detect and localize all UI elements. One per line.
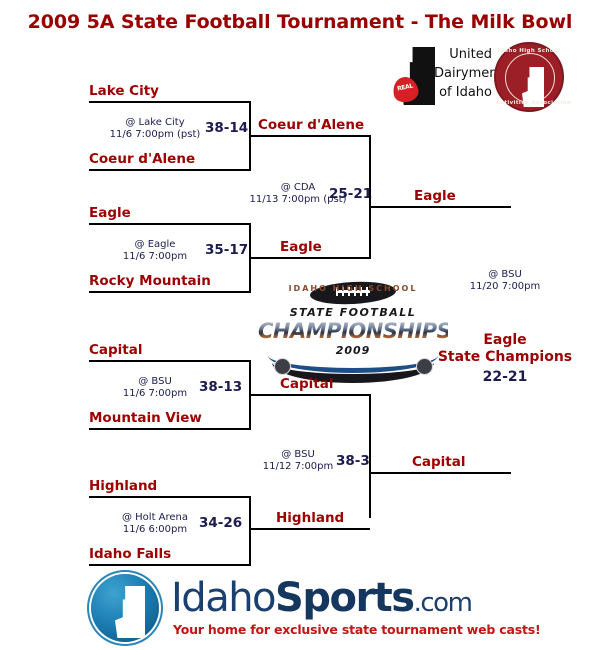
round1-game1-top-team: Lake City xyxy=(89,84,159,99)
round1-game3-info: @ BSU 11/6 7:00pm xyxy=(95,376,215,399)
semifinal2-winner-rule xyxy=(369,472,511,474)
round1-game4-venue: @ Holt Arena xyxy=(95,512,215,524)
bracket-page: 2009 5A State Football Tournament - The … xyxy=(0,0,600,650)
footer-tagline: Your home for exclusive state tournament… xyxy=(173,622,541,637)
round1-game2-top-rule xyxy=(89,223,250,225)
round1-game4-connector xyxy=(249,496,251,566)
cc-year-label: 2009 xyxy=(258,344,448,357)
semifinal1-score: 25-21 xyxy=(329,186,372,202)
united-dairymen-of-idaho-logo: REAL United Dairymen of Idaho xyxy=(393,45,491,107)
united-dairymen-text: United Dairymen of Idaho xyxy=(434,45,492,102)
udi-line-1: United xyxy=(434,45,492,64)
round1-game3-datetime: 11/6 7:00pm xyxy=(95,388,215,400)
semifinal2-score: 38-3 xyxy=(336,453,370,469)
round1-game1-top-rule xyxy=(89,101,250,103)
round1-game2-bottom-rule xyxy=(89,291,250,293)
round1-game2-venue: @ Eagle xyxy=(95,239,215,251)
round1-game4-bottom-team: Idaho Falls xyxy=(89,547,171,562)
round1-game1-bottom-rule xyxy=(89,169,250,171)
semifinal2-connector xyxy=(369,394,371,518)
cc-idaho-high-school-label: IDAHO HIGH SCHOOL xyxy=(258,284,448,293)
page-title: 2009 5A State Football Tournament - The … xyxy=(0,11,600,33)
round1-game1-venue: @ Lake City xyxy=(95,117,215,129)
round1-game4-top-team: Highland xyxy=(89,479,157,494)
state-champion-label: State Champions xyxy=(425,349,585,366)
semifinal1-connector xyxy=(369,135,371,259)
round1-game3-top-team: Capital xyxy=(89,343,143,358)
final-datetime: 11/20 7:00pm xyxy=(440,281,570,293)
round1-game1-winner-rule xyxy=(249,135,370,137)
round1-game2-winner-rule xyxy=(249,257,370,259)
round1-game2-bottom-team: Rocky Mountain xyxy=(89,274,211,289)
round1-game3-winner-rule xyxy=(249,394,370,396)
cc-state-football-label: STATE FOOTBALL xyxy=(258,306,448,319)
idaho-state-shape-icon xyxy=(115,586,145,638)
round1-game4-info: @ Holt Arena 11/6 6:00pm xyxy=(95,512,215,535)
round1-game4-score: 34-26 xyxy=(199,515,242,531)
semifinal2-winner-feed-top: Capital xyxy=(280,377,334,392)
idahosports-wordmark: IdahoSports.com xyxy=(171,576,471,625)
round1-game1-winner: Coeur d'Alene xyxy=(258,118,364,133)
round1-game1-bottom-team: Coeur d'Alene xyxy=(89,152,195,167)
round1-game3-bottom-rule xyxy=(89,428,250,430)
cc-badge-left-icon xyxy=(274,358,291,375)
round1-game3-bottom-team: Mountain View xyxy=(89,411,202,426)
idahosports-logo[interactable]: IdahoSports.com Your home for exclusive … xyxy=(85,570,525,646)
round1-game4-winner-rule xyxy=(249,528,370,530)
round1-game4-winner: Highland xyxy=(276,511,344,526)
round1-game2-datetime: 11/6 7:00pm xyxy=(95,251,215,263)
round1-game4-top-rule xyxy=(89,496,250,498)
final-info: @ BSU 11/20 7:00pm xyxy=(440,269,570,292)
round1-game2-info: @ Eagle 11/6 7:00pm xyxy=(95,239,215,262)
round1-game4-datetime: 11/6 6:00pm xyxy=(95,524,215,536)
state-champion-name: Eagle xyxy=(440,332,570,349)
final-score: 22-21 xyxy=(440,369,570,385)
udi-line-3: of Idaho xyxy=(434,83,492,102)
round1-game3-top-rule xyxy=(89,360,250,362)
round1-game1-score: 38-14 xyxy=(205,120,248,136)
round1-game2-top-team: Eagle xyxy=(89,206,131,221)
state-football-championships-logo: IDAHO HIGH SCHOOL STATE FOOTBALL CHAMPIO… xyxy=(258,282,448,382)
udi-line-2: Dairymen xyxy=(434,64,492,83)
round1-game3-venue: @ BSU xyxy=(95,376,215,388)
idahosports-circle-icon xyxy=(91,574,159,642)
idaho-high-school-activities-association-logo: Idaho High School Activities Association xyxy=(494,42,564,112)
brand-tld: .com xyxy=(414,588,472,618)
brand-part-1: Idaho xyxy=(171,575,275,621)
round1-game1-info: @ Lake City 11/6 7:00pm (pst) xyxy=(95,117,215,140)
real-seal-label: REAL xyxy=(392,82,418,94)
brand-part-2: Sports xyxy=(275,575,414,621)
round1-game4-bottom-rule xyxy=(89,564,250,566)
round1-game1-datetime: 11/6 7:00pm (pst) xyxy=(95,129,215,141)
round1-game3-score: 38-13 xyxy=(199,379,242,395)
round1-game3-connector xyxy=(249,360,251,430)
ihsaa-inner-ring xyxy=(505,53,555,103)
round1-game2-score: 35-17 xyxy=(205,242,248,258)
round1-game2-winner: Eagle xyxy=(280,240,322,255)
semifinal2-winner: Capital xyxy=(412,455,466,470)
ihsaa-bottom-arc-label: Activities Association xyxy=(496,100,562,106)
final-venue: @ BSU xyxy=(440,269,570,281)
semifinal1-winner: Eagle xyxy=(414,189,456,204)
semifinal1-winner-rule xyxy=(369,206,511,208)
